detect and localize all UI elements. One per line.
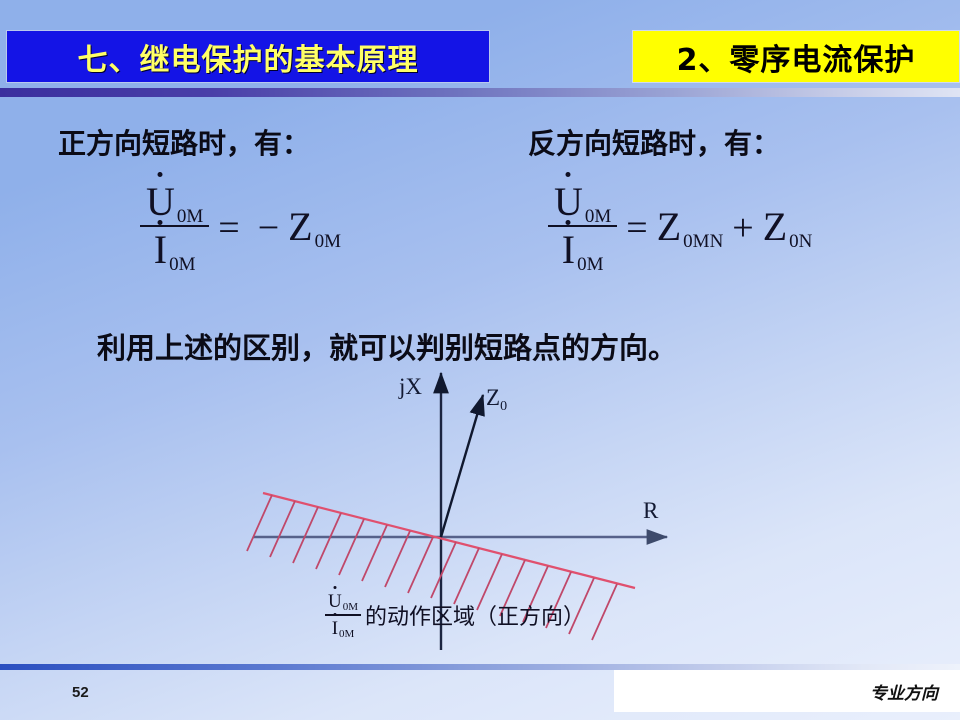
voltage-symbol: U — [146, 182, 175, 222]
z0-vector-label: Z0 — [486, 385, 507, 411]
reverse-fault-label: 反方向短路时，有： — [528, 122, 780, 162]
plus-sign: + — [732, 206, 753, 250]
impedance-symbol: Z — [288, 203, 312, 250]
current-subscript: 0M — [339, 629, 354, 640]
slide-canvas: 七、继电保护的基本原理 2、零序电流保护 正方向短路时，有： 反方向短路时，有：… — [0, 0, 960, 720]
reverse-fraction: U 0M I 0M — [548, 182, 617, 270]
reverse-fault-equation: U 0M I 0M = Z 0MN + Z 0N — [548, 182, 812, 270]
caption-denominator: I 0M — [329, 619, 358, 638]
subsection-title-text: 2、零序电流保护 — [677, 35, 916, 79]
impedance-subscript: 0M — [315, 231, 341, 253]
phasor-dot-icon — [566, 172, 571, 177]
caption-text: 的动作区域（正方向） — [365, 599, 585, 631]
conclusion-text: 利用上述的区别，就可以判别短路点的方向。 — [97, 325, 677, 367]
phasor-dot-icon — [158, 220, 163, 225]
forward-denominator: I 0M — [148, 230, 202, 270]
impedance-subscript: 0N — [789, 231, 812, 253]
section-title-text: 七、继电保护的基本原理 — [78, 35, 419, 79]
section-title-box: 七、继电保护的基本原理 — [6, 30, 490, 83]
voltage-subscript: 0M — [585, 207, 611, 226]
fraction-bar — [325, 614, 361, 616]
voltage-subscript: 0M — [177, 207, 203, 226]
header-divider — [0, 88, 960, 97]
forward-fraction: U 0M I 0M — [140, 182, 209, 270]
voltage-subscript: 0M — [343, 602, 358, 613]
caption-numerator: U 0M — [325, 592, 361, 611]
equals-sign: = — [218, 206, 239, 250]
impedance-term-2: Z 0N — [763, 203, 813, 250]
reverse-denominator: I 0M — [556, 230, 610, 270]
phasor-dot-icon — [333, 613, 336, 616]
jx-axis-label: jX — [399, 374, 422, 400]
forward-fault-equation: U 0M I 0M = − Z 0M — [140, 182, 341, 270]
z0-vector-arrow — [441, 395, 483, 537]
page-number: 52 — [72, 684, 89, 701]
phasor-dot-icon — [566, 220, 571, 225]
impedance-symbol: Z — [763, 203, 787, 250]
impedance-subscript: 0MN — [683, 231, 723, 253]
footer-label-text: 专业方向 — [870, 679, 938, 704]
current-subscript: 0M — [169, 255, 195, 274]
phasor-dot-icon — [333, 586, 336, 589]
forward-numerator: U 0M — [140, 182, 209, 222]
equals-sign: = — [626, 206, 647, 250]
current-symbol: I — [154, 230, 167, 270]
r-axis-label: R — [643, 498, 658, 524]
impedance-term: Z 0M — [288, 203, 341, 250]
current-symbol: I — [332, 619, 338, 638]
diagram-caption: U 0M I 0M 的动作区域（正方向） — [325, 592, 585, 638]
impedance-term-1: Z 0MN — [657, 203, 724, 250]
z0-subscript: 0 — [500, 399, 507, 414]
phasor-dot-icon — [158, 172, 163, 177]
impedance-symbol: Z — [657, 203, 681, 250]
subsection-title-box: 2、零序电流保护 — [632, 30, 960, 83]
voltage-symbol: U — [554, 182, 583, 222]
voltage-symbol: U — [328, 592, 342, 611]
caption-fraction: U 0M I 0M — [325, 592, 361, 638]
reverse-numerator: U 0M — [548, 182, 617, 222]
forward-fault-label: 正方向短路时，有： — [58, 122, 310, 162]
current-subscript: 0M — [577, 255, 603, 274]
minus-sign: − — [258, 206, 279, 250]
footer-label-box: 专业方向 — [614, 670, 960, 712]
current-symbol: I — [562, 230, 575, 270]
